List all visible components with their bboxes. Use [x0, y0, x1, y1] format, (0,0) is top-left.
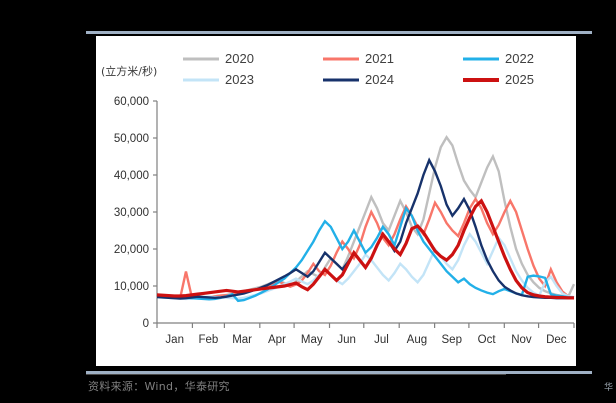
y-tick-label: 60,000: [114, 96, 149, 108]
x-tick-label: Dec: [546, 334, 567, 346]
y-tick-label: 0: [143, 318, 149, 330]
line-chart-plot: 010,00020,00030,00040,00050,00060,000Jan…: [96, 36, 576, 366]
source-note: 资料来源：Wind，华泰研究: [88, 378, 230, 394]
y-tick-label: 40,000: [114, 170, 149, 182]
x-tick-label: Aug: [407, 334, 427, 346]
source-divider-rule: [86, 374, 506, 375]
series-line-2025: [157, 201, 574, 298]
y-tick-label: 30,000: [114, 207, 149, 219]
y-tick-label: 20,000: [114, 244, 149, 256]
y-tick-label: 10,000: [114, 281, 149, 293]
x-tick-label: Oct: [478, 334, 497, 346]
x-tick-label: May: [301, 334, 323, 346]
x-tick-label: Jan: [165, 334, 184, 346]
side-margin-glyph: 华: [601, 382, 614, 391]
x-tick-label: Feb: [198, 334, 218, 346]
x-tick-label: Jul: [374, 334, 389, 346]
x-tick-label: Apr: [268, 334, 286, 346]
chart-figure: (立方米/秒) 2020 2021 2022 2023: [0, 0, 616, 403]
x-tick-label: Sep: [442, 334, 462, 346]
x-tick-label: Nov: [511, 334, 532, 346]
top-divider-rule: [86, 31, 592, 34]
x-tick-label: Mar: [232, 334, 252, 346]
x-tick-label: Jun: [337, 334, 356, 346]
y-tick-label: 50,000: [114, 133, 149, 145]
